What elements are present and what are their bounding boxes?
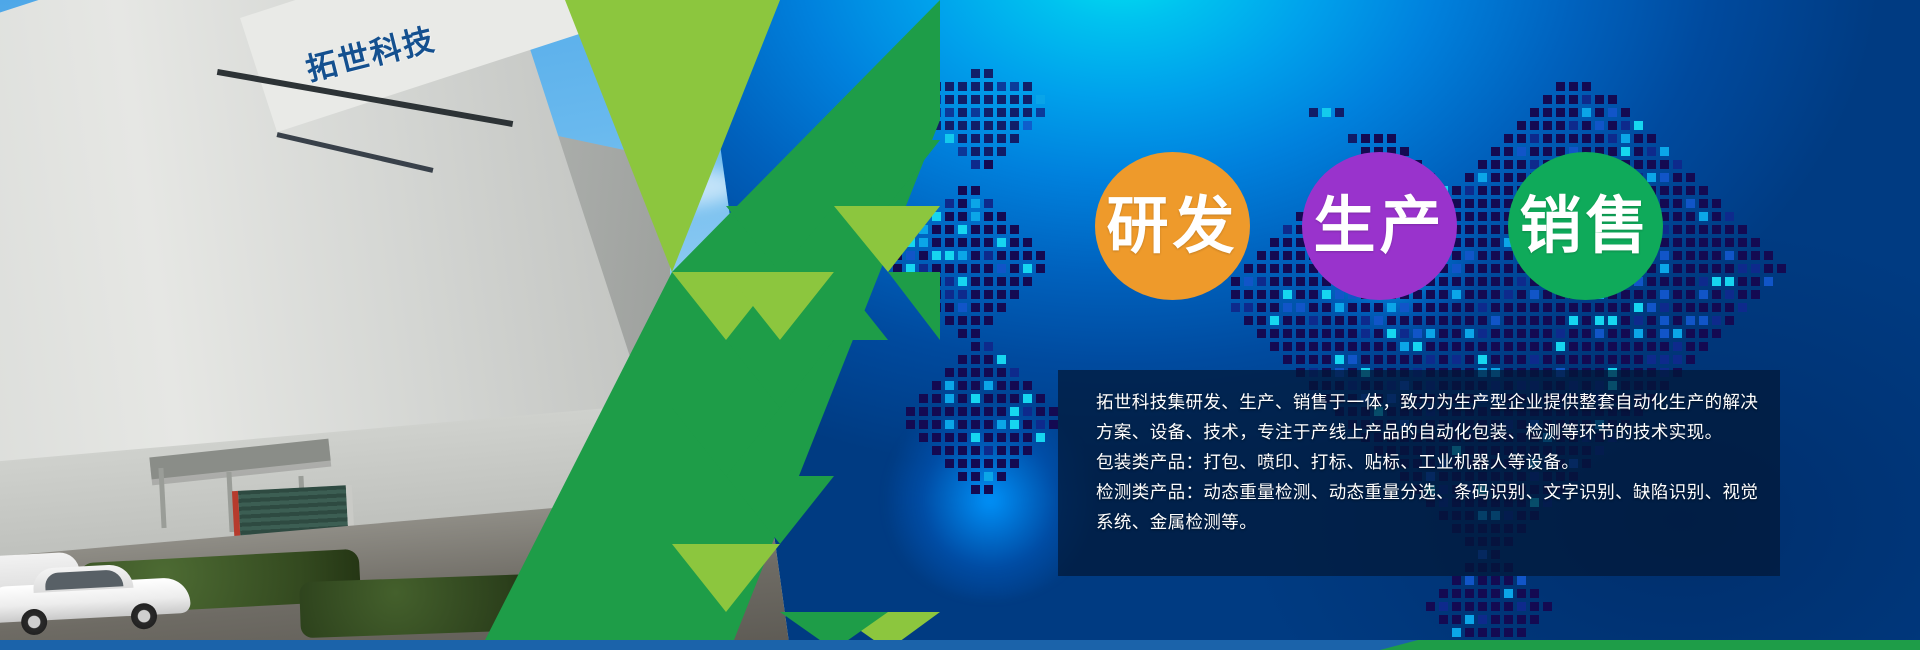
car-wheel xyxy=(130,603,157,630)
badge-circle-production-label: 生产 xyxy=(1313,195,1445,257)
info-line: 检测类产品：动态重量检测、动态重量分选、条码识别、文字识别、缺陷识别、视觉 xyxy=(1096,478,1776,508)
badge-circle-production[interactable]: 生产 xyxy=(1302,152,1457,300)
badge-circle-sales[interactable]: 销售 xyxy=(1508,152,1663,300)
car-wheel xyxy=(21,608,48,635)
info-line: 方案、设备、技术，专注于产线上产品的自动化包装、检测等环节的技术实现。 xyxy=(1096,418,1776,448)
hero-banner: 拓世科技 xyxy=(0,0,1920,650)
badge-circle-research[interactable]: 研发 xyxy=(1095,152,1250,300)
badge-circle-research-label: 研发 xyxy=(1106,195,1238,257)
green-triangle-pattern-icon xyxy=(480,0,940,650)
bottom-accent-band xyxy=(0,640,1920,650)
badge-circle-sales-label: 销售 xyxy=(1519,195,1651,257)
info-line: 系统、金属检测等。 xyxy=(1096,508,1776,538)
parked-car xyxy=(0,561,192,635)
bottom-band-green-accent xyxy=(0,640,1920,650)
info-line: 包装类产品：打包、喷印、打标、贴标、工业机器人等设备。 xyxy=(1096,448,1776,478)
info-line: 拓世科技集研发、生产、销售于一体，致力为生产型企业提供整套自动化生产的解决 xyxy=(1096,388,1776,418)
info-panel-text: 拓世科技集研发、生产、销售于一体，致力为生产型企业提供整套自动化生产的解决 方案… xyxy=(1096,388,1776,538)
